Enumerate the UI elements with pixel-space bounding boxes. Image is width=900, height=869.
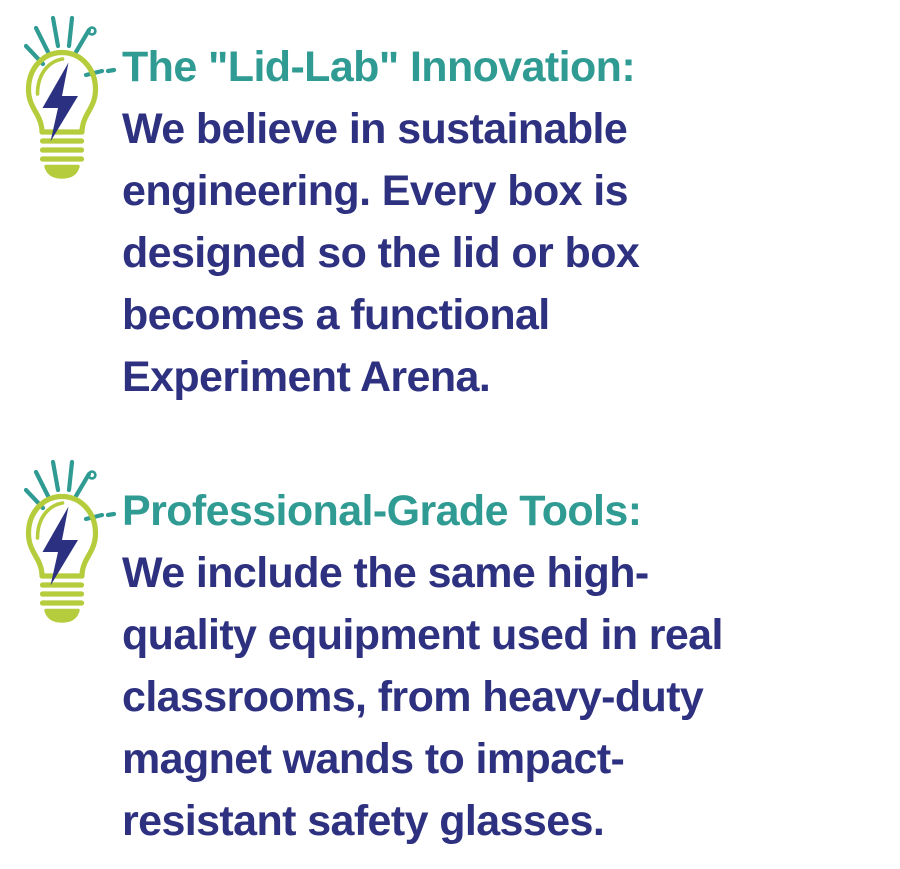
feature-text-container: Professional-Grade Tools: We include the…	[122, 452, 900, 852]
feature-list-page: The "Lid-Lab" Innovation: We believe in …	[0, 0, 900, 869]
spark-dot-icon	[89, 28, 96, 35]
feature-text-container: The "Lid-Lab" Innovation: We believe in …	[122, 8, 900, 408]
feature-block: Professional-Grade Tools: We include the…	[0, 452, 900, 852]
spark-dot-icon	[89, 472, 96, 479]
feature-heading: The "Lid-Lab" Innovation:	[122, 36, 876, 98]
feature-block: The "Lid-Lab" Innovation: We believe in …	[0, 8, 900, 408]
feature-heading: Professional-Grade Tools:	[122, 480, 876, 542]
lightbulb-idea-icon	[6, 452, 118, 624]
feature-body-text: We believe in sustainable engineering. E…	[122, 98, 876, 408]
feature-icon-container	[0, 8, 122, 180]
lightbulb-idea-icon	[6, 8, 118, 180]
feature-icon-container	[0, 452, 122, 624]
feature-body-text: We include the same high- quality equipm…	[122, 542, 876, 852]
